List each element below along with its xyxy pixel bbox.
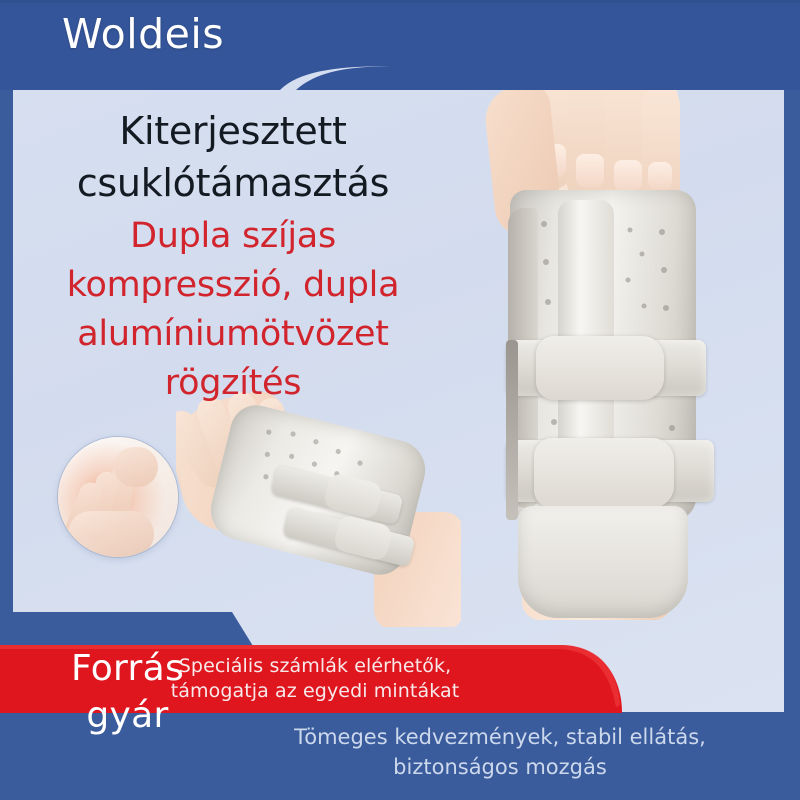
ribbon-line-1: Speciális számlák elérhetők, xyxy=(179,654,451,679)
bottom-caption-line-2: biztonságos mozgás xyxy=(200,752,800,782)
pain-hand-image xyxy=(58,437,178,557)
top-hairline xyxy=(0,0,800,3)
bottom-caption: Tömeges kedvezmények, stabil ellátás, bi… xyxy=(200,722,800,782)
subheadline-line-3: alumíniumötvözet xyxy=(18,310,448,359)
nail-3 xyxy=(614,160,642,192)
headline: Kiterjesztett csuklótámasztás xyxy=(18,105,448,209)
headline-line-1: Kiterjesztett xyxy=(18,105,448,157)
subheadline-line-1: Dupla szíjas xyxy=(18,212,448,261)
brace-lower-cuff xyxy=(518,506,688,618)
ribbon-text: Speciális számlák elérhetők, támogatja a… xyxy=(0,645,608,713)
main-product-photo xyxy=(462,40,772,620)
promo-poster: Woldeis Kiterjesztett csuklótámasztás Du… xyxy=(0,0,800,800)
brand-title: Woldeis xyxy=(62,6,224,62)
nail-2 xyxy=(576,154,604,188)
subheadline: Dupla szíjas kompresszió, dupla alumíniu… xyxy=(18,212,448,408)
pain-knuckles xyxy=(114,447,158,487)
upper-strap-pad xyxy=(536,336,664,400)
headline-line-2: csuklótámasztás xyxy=(18,157,448,209)
subheadline-line-2: kompresszió, dupla xyxy=(18,261,448,310)
center-product-photo xyxy=(176,392,461,627)
subheadline-line-4: rögzítés xyxy=(18,359,448,408)
bottom-caption-line-1: Tömeges kedvezmények, stabil ellátás, xyxy=(200,722,800,752)
nail-4 xyxy=(648,162,672,190)
brace-buckle-rail xyxy=(506,340,518,520)
lower-strap-pad xyxy=(534,438,674,508)
pain-inset-photo xyxy=(58,437,178,557)
pain-palm xyxy=(68,511,154,557)
ribbon-line-2: támogatja az egyedi mintákat xyxy=(171,679,460,704)
